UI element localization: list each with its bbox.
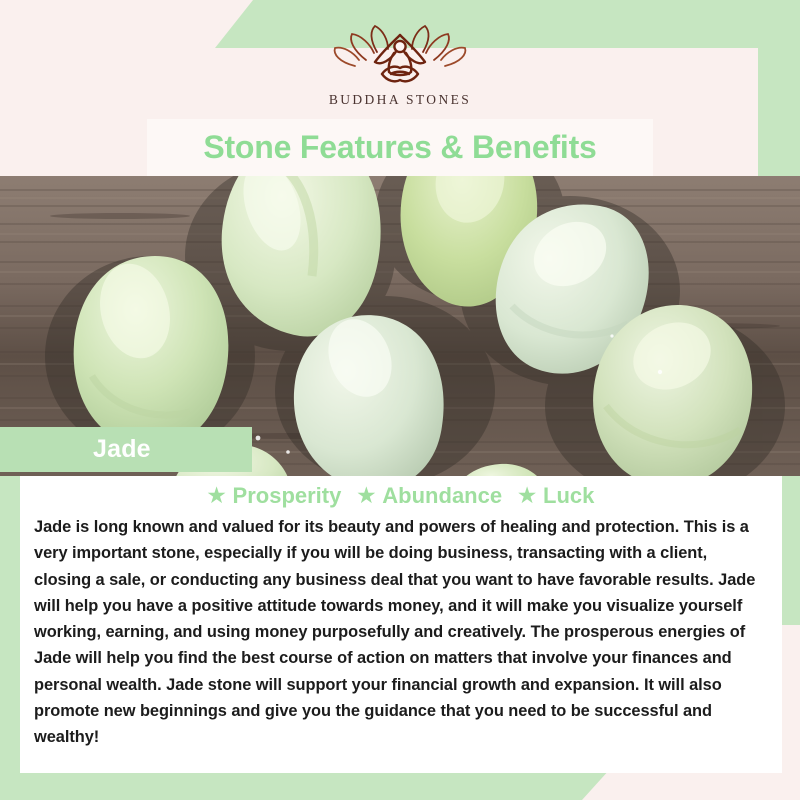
keyword-prosperity: ★ Prosperity xyxy=(208,483,342,509)
keyword-label: Prosperity xyxy=(233,483,342,509)
stone-description: Jade is long known and valued for its be… xyxy=(32,514,770,751)
content-panel: ★ Prosperity ★ Abundance ★ Luck Jade is … xyxy=(20,476,782,773)
brand-header: BUDDHA STONES xyxy=(0,0,800,118)
page-title: Stone Features & Benefits xyxy=(203,129,596,166)
keyword-label: Abundance xyxy=(382,483,502,509)
stone-name-band: Jade xyxy=(0,427,252,472)
brand-name: BUDDHA STONES xyxy=(329,92,471,108)
keyword-luck: ★ Luck xyxy=(518,483,594,509)
star-icon: ★ xyxy=(208,486,226,506)
title-banner: Stone Features & Benefits xyxy=(147,119,653,176)
lotus-meditation-figure-icon xyxy=(325,22,475,86)
keyword-label: Luck xyxy=(543,483,594,509)
keyword-abundance: ★ Abundance xyxy=(357,483,502,509)
star-icon: ★ xyxy=(518,486,536,506)
keyword-list: ★ Prosperity ★ Abundance ★ Luck xyxy=(32,480,770,512)
star-icon: ★ xyxy=(357,486,375,506)
stone-name-label: Jade xyxy=(0,435,151,464)
